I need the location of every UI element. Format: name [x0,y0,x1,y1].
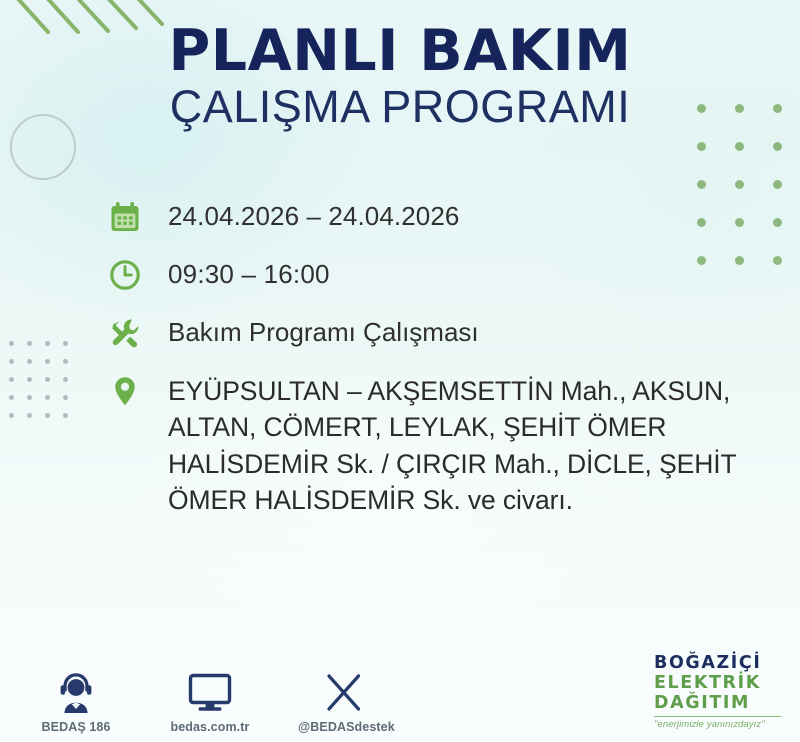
detail-row-time: 09:30 – 16:00 [104,254,744,296]
affected-areas-text: EYÜPSULTAN – AKŞEMSETTİN Mah., AKSUN, AL… [146,370,744,518]
maintenance-details: 24.04.2026 – 24.04.2026 09:30 – 16:00 [104,196,744,534]
detail-row-work-type: Bakım Programı Çalışması [104,312,744,354]
x-twitter-icon [298,667,390,713]
contact-website[interactable]: bedas.com.tr [164,667,256,734]
clock-icon [104,254,146,296]
time-range-text: 09:30 – 16:00 [146,254,330,292]
brand-line-elektrik: ELEKTRİK [654,674,786,694]
page-title: PLANLI BAKIM [0,22,800,81]
monitor-icon [164,667,256,713]
brand-line-dagitim: DAĞITIM [654,694,786,714]
tools-icon [104,312,146,354]
location-pin-icon [104,370,146,412]
contact-website-label: bedas.com.tr [164,720,256,734]
poster-heading-block: PLANLI BAKIM ÇALIŞMA PROGRAMI [0,22,800,132]
brand-logo: BOĞAZİÇİ ELEKTRİK DAĞITIM "enerjimizle y… [654,654,786,730]
contact-call-center-label: BEDAŞ 186 [30,720,122,734]
contact-x-social[interactable]: @BEDASdestek [298,667,390,734]
planned-maintenance-poster: PLANLI BAKIM ÇALIŞMA PROGRAMI [0,0,800,742]
page-subtitle: ÇALIŞMA PROGRAMI [0,83,800,132]
brand-tagline: "enerjimizle yanınızdayız" [654,719,786,730]
detail-row-date: 24.04.2026 – 24.04.2026 [104,196,744,238]
calendar-icon [104,196,146,238]
brand-divider [654,716,781,718]
work-type-text: Bakım Programı Çalışması [146,312,479,350]
footer-contacts: BEDAŞ 186 bedas.com.tr [30,667,390,734]
date-range-text: 24.04.2026 – 24.04.2026 [146,196,459,234]
contact-x-social-label: @BEDASdestek [298,720,390,734]
detail-row-location: EYÜPSULTAN – AKŞEMSETTİN Mah., AKSUN, AL… [104,370,744,518]
contact-call-center[interactable]: BEDAŞ 186 [30,667,122,734]
brand-line-bogazici: BOĞAZİÇİ [654,654,786,674]
headset-agent-icon [30,667,122,713]
dot-grid-left-decoration [9,341,81,431]
